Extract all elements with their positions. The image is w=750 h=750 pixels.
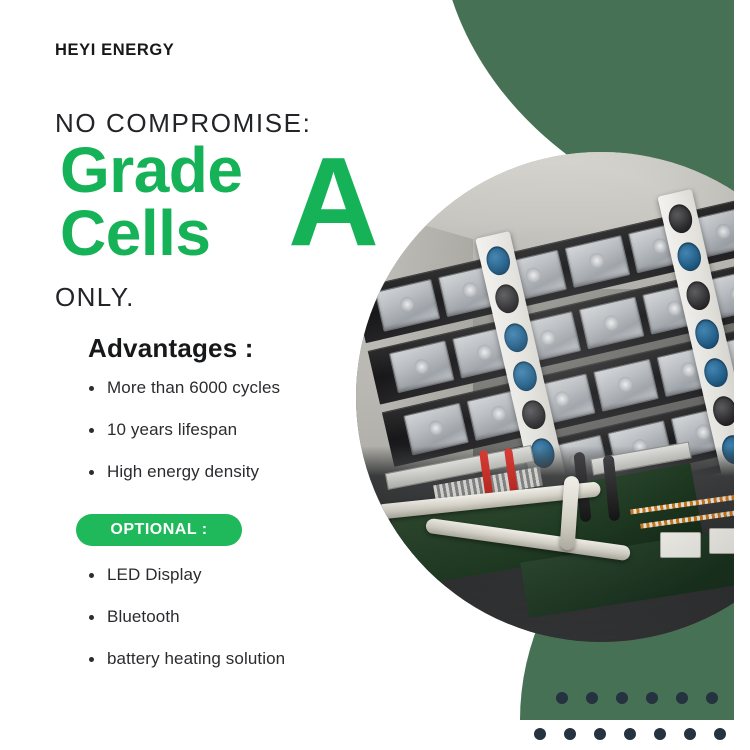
photo-vignette: [356, 152, 750, 642]
battery-photo: [356, 152, 750, 642]
list-item: 10 years lifespan: [88, 420, 280, 440]
list-item: battery heating solution: [88, 649, 285, 669]
optional-list: LED Display Bluetooth battery heating so…: [88, 565, 285, 691]
headline-suffix: ONLY.: [55, 282, 135, 313]
poster-canvas: HEYI ENERGY NO COMPROMISE: A Grade Cells…: [0, 0, 750, 750]
headline-line-1: Grade: [60, 134, 242, 206]
headline-line-2: Cells: [60, 202, 242, 265]
list-item: LED Display: [88, 565, 285, 585]
dot-grid-decoration: [556, 684, 750, 750]
optional-badge: OPTIONAL :: [76, 514, 242, 546]
list-item: Bluetooth: [88, 607, 285, 627]
right-edge-mask: [734, 0, 750, 750]
list-item: More than 6000 cycles: [88, 378, 280, 398]
brand-logo: HEYI ENERGY: [55, 41, 174, 60]
advantages-list: More than 6000 cycles 10 years lifespan …: [88, 378, 280, 504]
list-item: High energy density: [88, 462, 280, 482]
grade-letter-a: A: [288, 139, 377, 265]
battery-photo-circle: [356, 152, 750, 642]
headline-main: Grade Cells: [60, 139, 242, 264]
advantages-title: Advantages :: [88, 333, 254, 364]
